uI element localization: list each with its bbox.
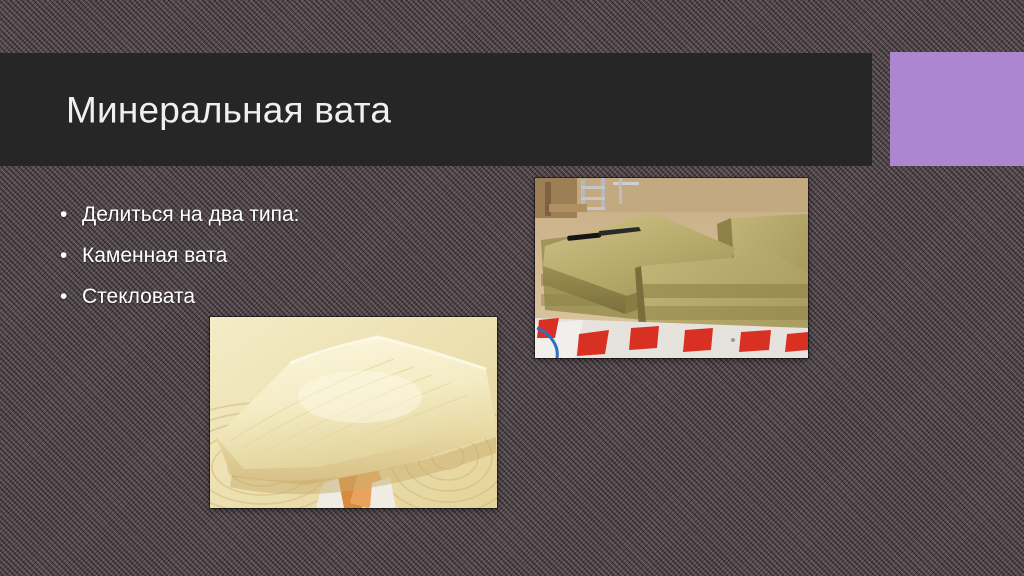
list-item: • Стекловата [60,276,490,317]
bullet-point-icon: • [60,235,82,276]
list-item: • Каменная вата [60,235,490,276]
bullet-point-icon: • [60,276,82,317]
list-item-label: Делиться на два типа: [82,194,490,235]
list-item-label: Каменная вата [82,235,490,276]
bullet-list: • Делиться на два типа: • Каменная вата … [60,194,490,317]
stone-wool-photo [535,178,808,358]
title-band: Минеральная вата [0,53,872,166]
bullet-point-icon: • [60,194,82,235]
page-title: Минеральная вата [66,91,391,128]
glass-wool-illustration [210,317,497,508]
list-item-label: Стекловата [82,276,490,317]
accent-color-block [890,52,1024,166]
presentation-slide: Минеральная вата • Делиться на два типа:… [0,0,1024,576]
glass-wool-photo [210,317,497,508]
list-item: • Делиться на два типа: [60,194,490,235]
stone-wool-illustration [535,178,808,358]
